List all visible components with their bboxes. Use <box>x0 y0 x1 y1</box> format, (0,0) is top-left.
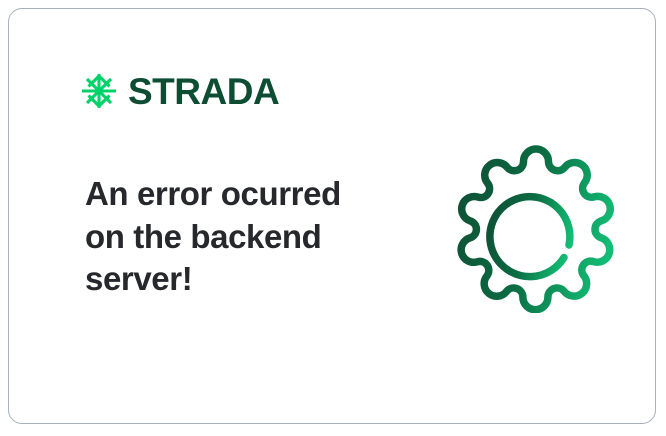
gear-spinner-icon <box>452 145 620 313</box>
strada-asterisk-icon <box>79 71 119 111</box>
error-card: STRADA An error ocurred on the backend s… <box>8 8 656 424</box>
error-message: An error ocurred on the backend server! <box>85 173 385 301</box>
gear-inner-ring <box>490 197 570 277</box>
brand-lockup: STRADA <box>79 69 279 113</box>
gear-outer-ring <box>461 149 610 310</box>
brand-name: STRADA <box>128 73 279 110</box>
